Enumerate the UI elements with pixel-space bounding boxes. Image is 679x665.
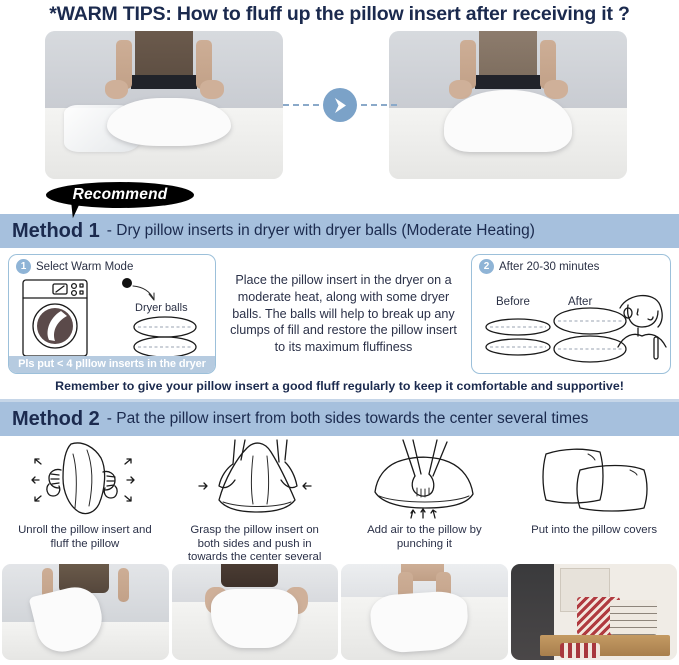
step1-header: 1 Select Warm Mode bbox=[9, 255, 215, 274]
dashed-line-left bbox=[283, 104, 319, 106]
page-title: *WARM TIPS: How to fluff up the pillow i… bbox=[0, 0, 679, 30]
play-arrow-icon bbox=[323, 88, 357, 122]
step2-header: 2 After 20-30 minutes bbox=[472, 255, 670, 274]
dryer-balls-illustration: Dryer balls bbox=[121, 277, 207, 360]
person-waist bbox=[131, 75, 198, 88]
motion-arrows bbox=[199, 483, 311, 489]
hero-photo-before bbox=[45, 31, 283, 179]
flat-pillow-insert bbox=[107, 98, 231, 147]
method1-reminder: Remember to give your pillow insert a go… bbox=[0, 374, 679, 399]
motion-arrows bbox=[32, 459, 134, 501]
person-hand-right bbox=[544, 80, 568, 99]
before-after-illustration: Before After bbox=[478, 275, 670, 374]
method2-photo-2 bbox=[172, 564, 339, 660]
sketch-cell-2 bbox=[170, 440, 340, 524]
arm-right-sketch bbox=[277, 440, 297, 488]
method2-photo-3 bbox=[341, 564, 508, 660]
step1-footer-note: Pls put < 4 plllow inserts in the dryer bbox=[9, 356, 215, 373]
after-label: After bbox=[568, 296, 592, 308]
step1-label: Select Warm Mode bbox=[36, 261, 133, 273]
step2-label: After 20-30 minutes bbox=[499, 261, 599, 273]
method1-step1-card: 1 Select Warm Mode bbox=[8, 254, 216, 374]
person-hand-left bbox=[449, 80, 473, 99]
before-label: Before bbox=[496, 296, 530, 308]
hero-photo-after bbox=[389, 31, 627, 179]
caption-step-4: Put into the pillow covers bbox=[509, 524, 679, 560]
caption-step-1: Unroll the pillow insert and fluff the p… bbox=[0, 524, 170, 560]
person-torso bbox=[221, 564, 278, 587]
sketch-cell-3 bbox=[340, 440, 510, 524]
sketch-cell-1 bbox=[0, 440, 170, 524]
step-number-badge: 2 bbox=[479, 259, 494, 274]
hero-photo-row bbox=[8, 30, 671, 180]
method1-center-text-block: Place the pillow insert in the dryer on … bbox=[222, 254, 465, 374]
recommend-badge-label: Recommend bbox=[46, 182, 194, 208]
method2-sketch-row bbox=[0, 436, 679, 524]
step-number-badge: 1 bbox=[16, 259, 31, 274]
two-pillows-sketch bbox=[534, 440, 654, 525]
sketch-cell-4 bbox=[509, 440, 679, 524]
method1-body: 1 Select Warm Mode bbox=[0, 248, 679, 374]
method1-step2-card: 2 After 20-30 minutes Before After bbox=[471, 254, 671, 374]
person-torso bbox=[135, 31, 192, 81]
caption-step-3: Add air to the pillow by punching it bbox=[340, 524, 510, 560]
person-figure-icon bbox=[618, 296, 666, 347]
arm-left-sketch bbox=[219, 440, 245, 488]
decorative-pillow-grid bbox=[610, 600, 657, 635]
method2-caption-row: Unroll the pillow insert and fluff the p… bbox=[0, 524, 679, 560]
person-hand-right bbox=[200, 80, 224, 99]
dryer-machine-icon bbox=[19, 278, 97, 365]
method2-photo-1 bbox=[2, 564, 169, 660]
person-hand-left bbox=[105, 80, 129, 99]
method1-banner: Method 1 - Dry pillow inserts in dryer w… bbox=[0, 214, 679, 248]
recommend-badge: Recommend bbox=[46, 182, 194, 208]
method2-banner: Method 2 - Pat the pillow insert from bo… bbox=[0, 402, 679, 436]
decorative-throw-blanket bbox=[560, 643, 600, 658]
method1-center-text: Place the pillow insert in the dryer on … bbox=[226, 272, 461, 355]
recommend-badge-zone: Recommend bbox=[0, 182, 679, 214]
punch-air-sketch bbox=[359, 438, 489, 527]
method2-photo-strip bbox=[0, 560, 679, 660]
arms-sketch bbox=[403, 440, 447, 497]
person-arm-right bbox=[118, 568, 129, 603]
hand-left-sketch bbox=[47, 469, 61, 496]
method1-description: - Dry pillow inserts in dryer with dryer… bbox=[107, 222, 535, 240]
grasp-push-sketch bbox=[185, 438, 325, 527]
method2-description: - Pat the pillow insert from both sides … bbox=[107, 410, 589, 428]
caption-step-2: Grasp the pillow insert on both sides an… bbox=[170, 524, 340, 560]
method2-photo-4 bbox=[511, 564, 678, 660]
method1-title: Method 1 bbox=[12, 220, 100, 243]
dryer-balls-label: Dryer balls bbox=[135, 302, 188, 314]
unroll-fluff-sketch bbox=[21, 438, 149, 527]
person-torso bbox=[479, 31, 536, 81]
pillow-pushed-center bbox=[211, 589, 298, 649]
person-waist bbox=[475, 75, 542, 88]
motion-arrows bbox=[411, 509, 436, 518]
method2-title: Method 2 bbox=[12, 408, 100, 431]
